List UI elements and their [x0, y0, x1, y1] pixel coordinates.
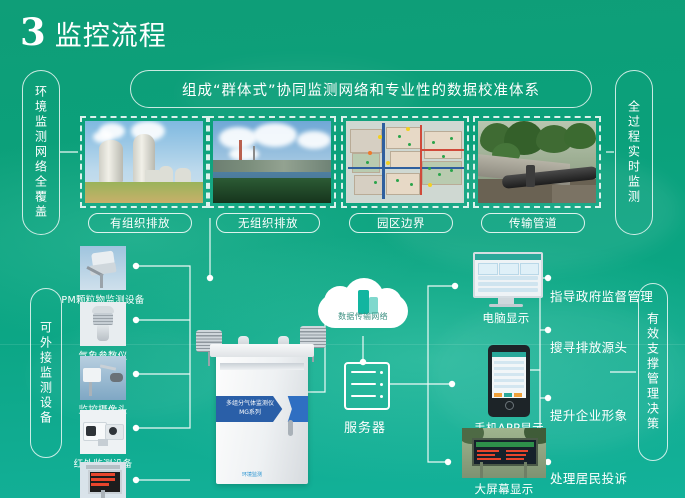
noise-monitor-icon — [80, 462, 126, 498]
server-label: 服务器 — [344, 417, 386, 436]
cabinet-subtitle: MG系列 — [221, 408, 279, 417]
display-item-mobile-app: 手机APP显示 — [463, 345, 555, 436]
photo-industrial-skyline — [208, 116, 336, 208]
display-label: 大屏幕显示 — [458, 481, 550, 497]
infographic-canvas: 3 监控流程 环境监测网络全覆盖 组成“群体式”协同监测网络和专业性的数据校准体… — [0, 0, 685, 498]
capsule-external-devices-label: 可外接监测设备 — [30, 288, 62, 458]
capsule-decision-support-label: 有效支撑管理决策 — [638, 283, 668, 461]
desktop-monitor-icon — [473, 252, 539, 307]
cabinet-title: 多组分气体监测仪 — [221, 399, 279, 408]
display-label: 电脑显示 — [460, 310, 552, 326]
benefit-label-resident-complaints: 处理居民投诉 — [550, 468, 627, 487]
capsule-realtime-label: 全过程实时监测 — [615, 70, 653, 235]
device-item-infrared-camera: 红外监测设备 — [60, 410, 146, 470]
device-item-weather-station: 气象参数仪 — [60, 302, 146, 362]
data-transmission-cloud: 数据传输网络 — [318, 278, 408, 334]
led-board-icon — [462, 428, 546, 478]
device-item-pm-sensor: PM颗粒物监测设备 — [60, 246, 146, 306]
display-item-desktop: 电脑显示 — [460, 252, 552, 326]
photo-caption-organized-emission: 有组织排放 — [88, 213, 192, 233]
capsule-banner: 组成“群体式”协同监测网络和专业性的数据校准体系 — [130, 70, 592, 108]
section-number: 3 — [20, 14, 46, 51]
photo-cooling-towers — [80, 116, 208, 208]
cloud-label: 数据传输网络 — [318, 311, 408, 322]
infrared-camera-icon — [80, 410, 126, 454]
photo-transport-pipeline — [473, 116, 601, 208]
gas-monitoring-cabinet: 多组分气体监测仪 MG系列 环境监测 — [216, 352, 308, 484]
cabinet-logo: 环境监测 — [242, 471, 262, 478]
mobile-phone-icon — [488, 345, 530, 417]
cctv-camera-icon — [80, 356, 126, 400]
benefit-label-government-supervision: 指导政府监督管理 — [550, 286, 653, 305]
device-item-noise-monitor: 噪音监测设备 — [60, 462, 146, 498]
pm-sensor-icon — [80, 246, 126, 290]
display-item-led-board: 大屏幕显示 — [458, 428, 550, 497]
device-item-cctv-camera: 监控摄像头 — [60, 356, 146, 416]
benefit-label-emission-source: 搜寻排放源头 — [550, 337, 627, 356]
benefit-label-corporate-image: 提升企业形象 — [550, 405, 627, 424]
photo-park-boundary-map — [341, 116, 469, 208]
server-node: 服务器 — [344, 362, 386, 436]
page-title: 监控流程 — [55, 23, 167, 50]
photo-caption-unorganized-emission: 无组织排放 — [216, 213, 320, 233]
capsule-coverage-label: 环境监测网络全覆盖 — [22, 70, 60, 235]
weather-station-icon — [80, 302, 126, 346]
photo-caption-transport-pipeline: 传输管道 — [481, 213, 585, 233]
photo-caption-park-boundary: 园区边界 — [349, 213, 453, 233]
page-header: 3 监控流程 — [20, 14, 167, 51]
server-rack-icon — [344, 362, 390, 410]
cabinet-handle — [288, 420, 293, 436]
